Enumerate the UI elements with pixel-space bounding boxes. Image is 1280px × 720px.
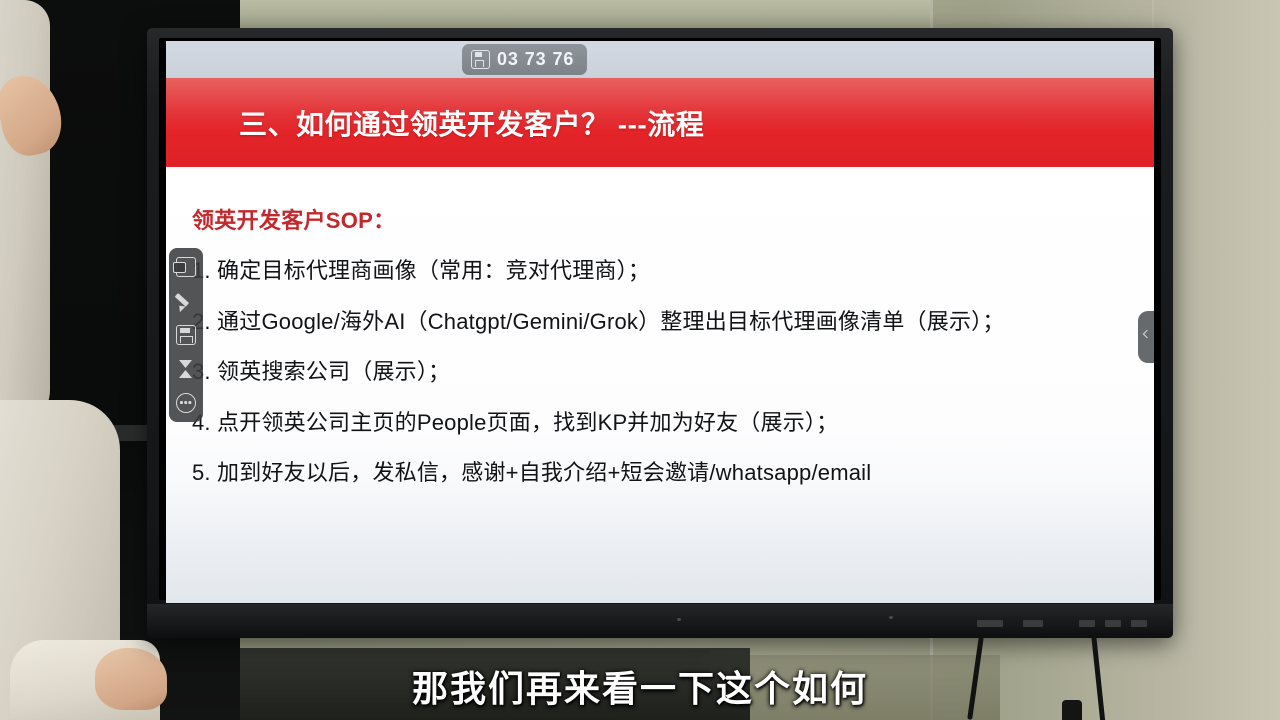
hdmi-port [977,620,1003,627]
display-chin [147,604,1173,638]
chin-speck [677,618,681,621]
slide-title-banner: 三、如何通过领英开发客户？ ---流程 [166,78,1154,167]
wall-panel-upper [230,0,930,30]
windows-switch-icon[interactable] [176,257,196,277]
list-item: 5. 加到好友以后，发私信，感谢+自我介绍+短会邀请/whatsapp/emai… [192,459,1142,487]
video-frame: 03 73 76 三、如何通过领英开发客户？ ---流程 领英开发客户SOP： … [0,0,1280,720]
usb-port [1023,620,1043,627]
chevron-left-icon[interactable] [1138,311,1154,363]
aux-port [1105,620,1121,627]
hourglass-timer-icon[interactable] [176,359,196,379]
sop-heading: 领英开发客户SOP： [192,203,395,235]
aux-port [1079,620,1095,627]
status-badge-text: 03 73 76 [497,49,574,70]
slide-topbar: 03 73 76 [166,41,1154,78]
presenter-arm [0,0,50,430]
subtitle-caption: 那我们再来看一下这个如何 [0,660,1280,712]
list-item: 2. 通过Google/海外AI（Chatgpt/Gemini/Grok）整理出… [192,308,1142,336]
screen-side-toolbar[interactable] [169,248,203,422]
list-item: 3. 领英搜索公司（展示）； [192,358,1142,386]
status-badge[interactable]: 03 73 76 [462,44,587,75]
slide-body: 领英开发客户SOP： 1. 确定目标代理商画像（常用：竞对代理商）； 2. 通过… [166,167,1154,603]
presentation-screen[interactable]: 03 73 76 三、如何通过领英开发客户？ ---流程 领英开发客户SOP： … [166,41,1154,603]
aux-port [1131,620,1147,627]
list-item: 4. 点开领英公司主页的People页面，找到KP并加为好友（展示）； [192,409,1142,437]
list-item: 1. 确定目标代理商画像（常用：竞对代理商）； [192,257,1142,285]
display-ports [977,618,1167,630]
save-icon [471,50,490,69]
slide-title: 三、如何通过领英开发客户？ ---流程 [239,103,704,143]
pen-icon[interactable] [176,291,196,311]
more-options-icon[interactable] [176,393,196,413]
chin-speck [889,616,893,619]
save-icon[interactable] [176,325,196,345]
sop-list: 1. 确定目标代理商画像（常用：竞对代理商）； 2. 通过Google/海外AI… [192,257,1142,487]
